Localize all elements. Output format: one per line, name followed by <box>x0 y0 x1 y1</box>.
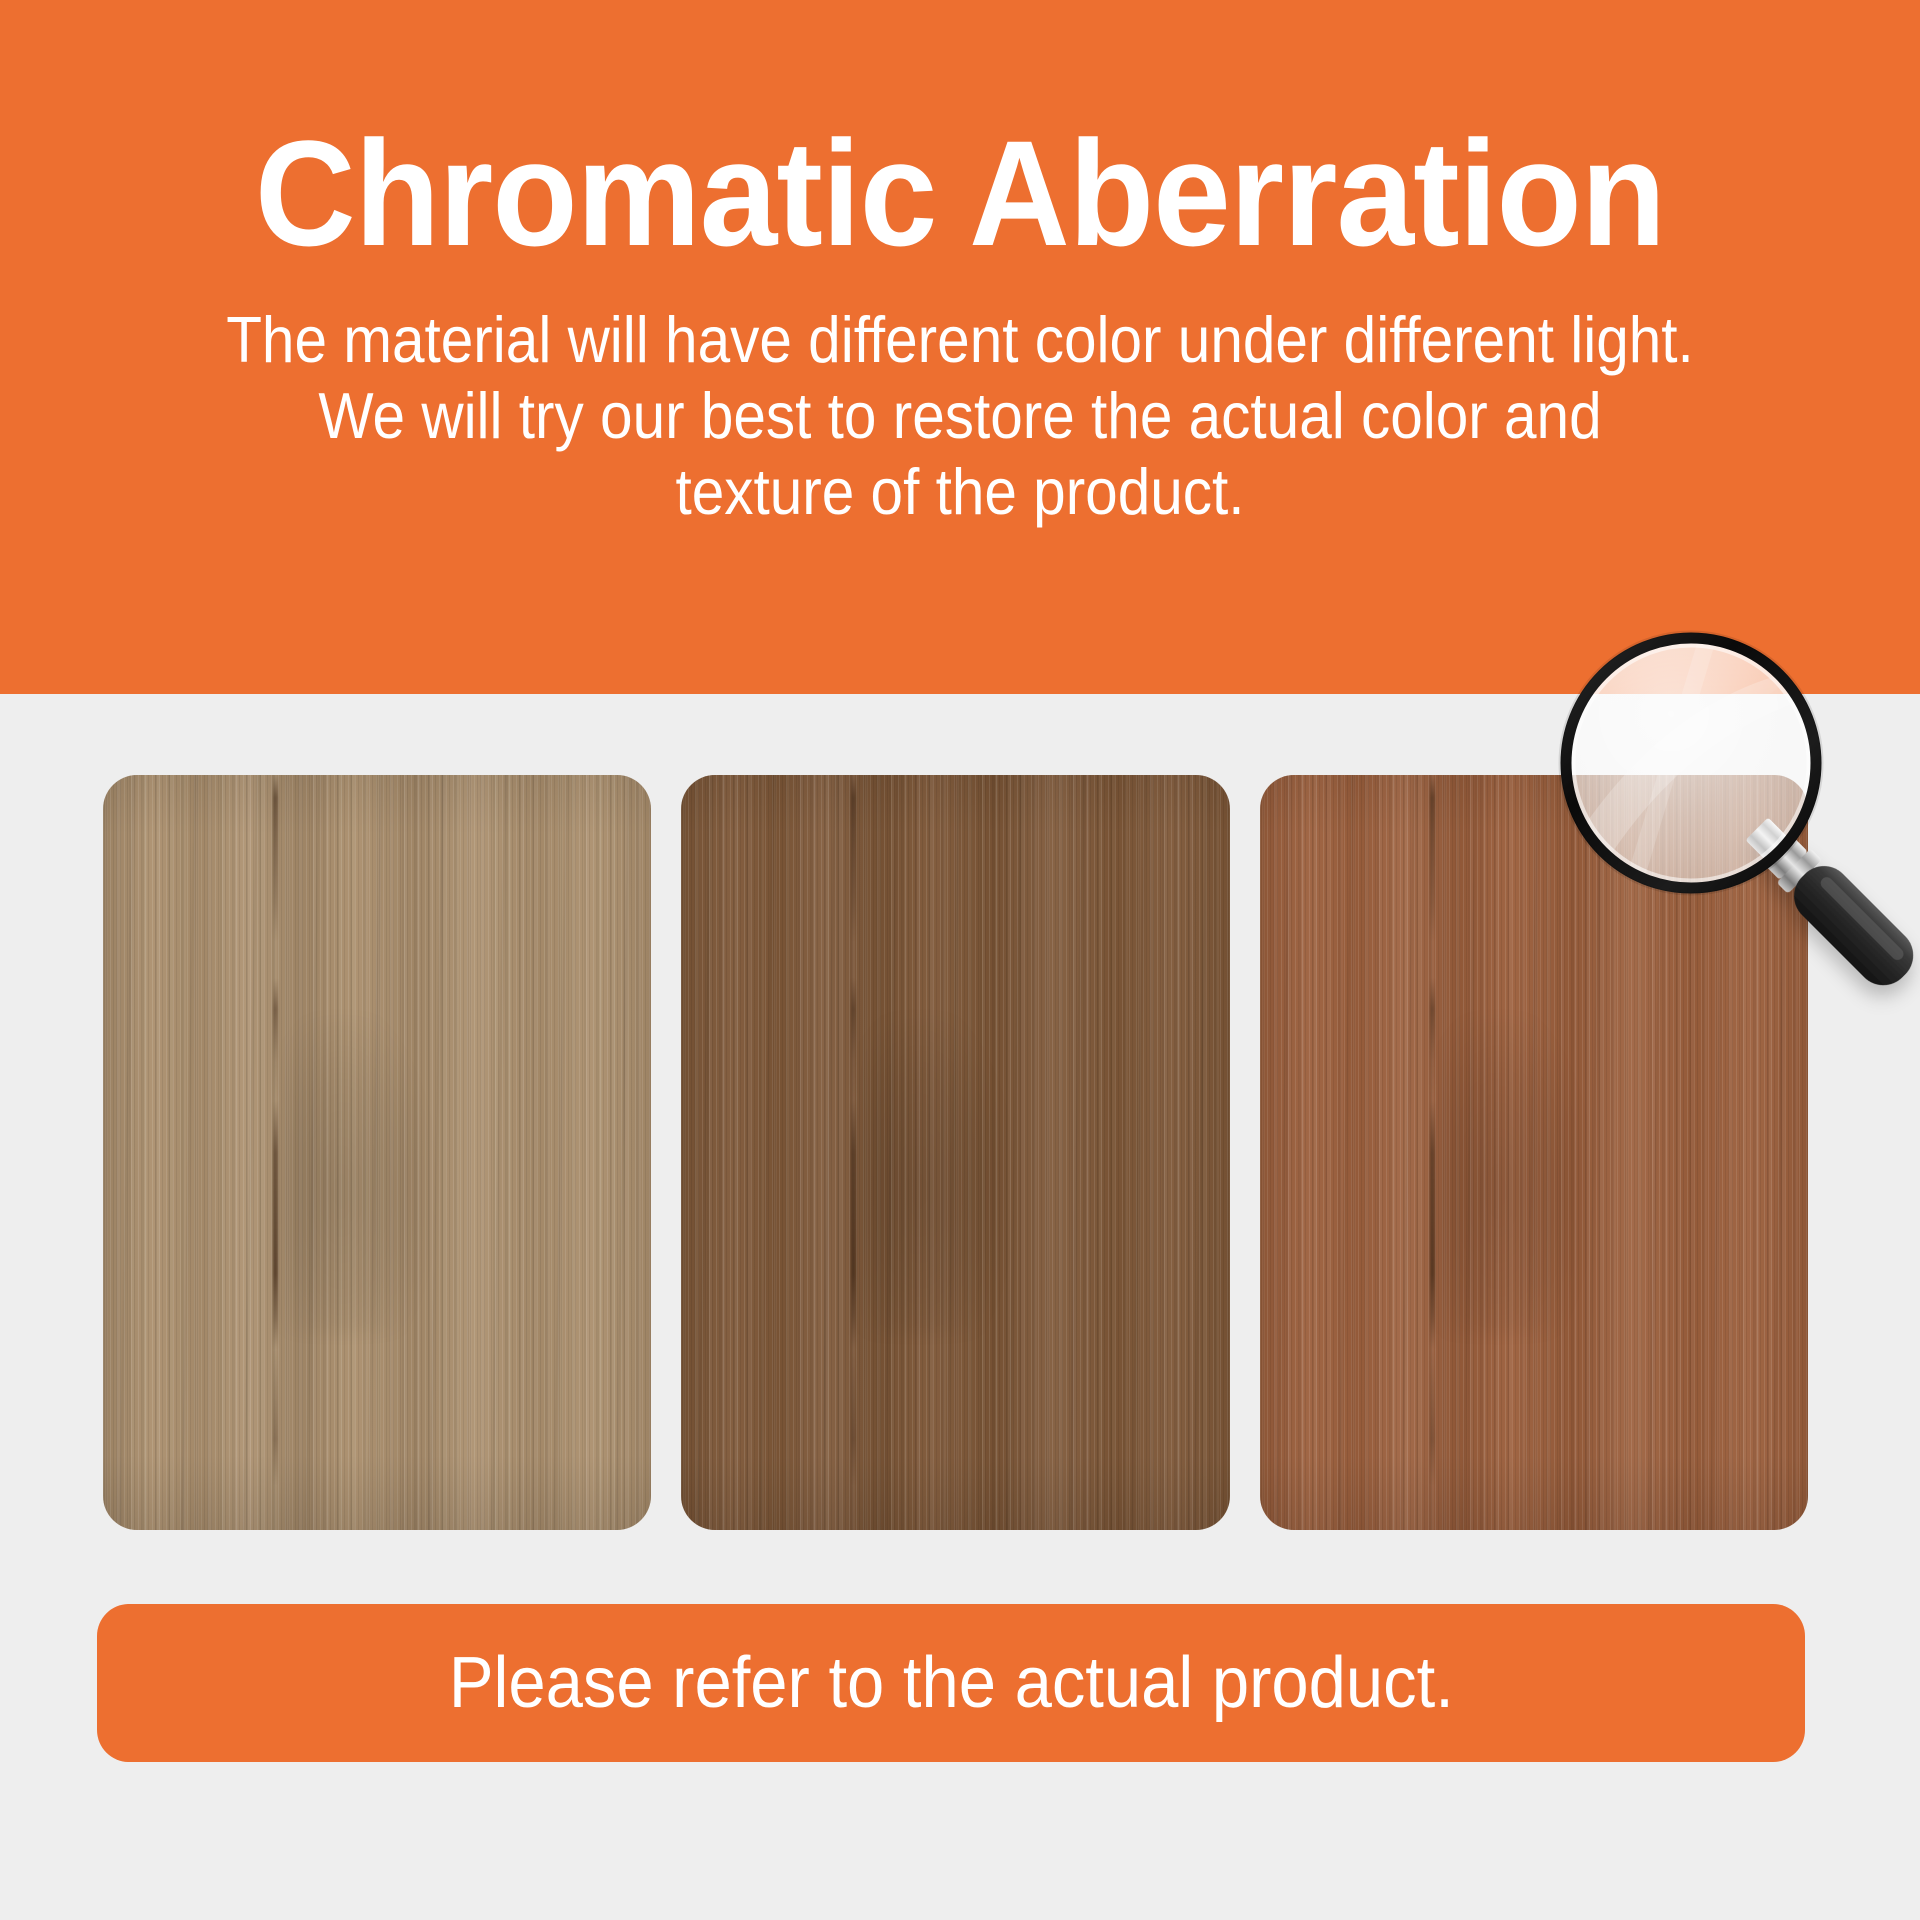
header-subtitle: The material will have different color u… <box>96 268 1824 530</box>
warm-teak-swatch[interactable] <box>1260 775 1808 1530</box>
wood-vignette <box>681 775 1229 1530</box>
wood-vignette <box>1260 775 1808 1530</box>
light-oak-swatch[interactable] <box>103 775 651 1530</box>
header-band: Chromatic Aberration The material will h… <box>0 0 1920 694</box>
banner-label: Please refer to the actual product. <box>448 1647 1453 1719</box>
handle-highlight <box>1818 875 1906 963</box>
subtitle-line-1: The material will have different color u… <box>96 302 1824 378</box>
subtitle-line-2: We will try our best to restore the actu… <box>96 378 1824 454</box>
page-title: Chromatic Aberration <box>67 118 1853 268</box>
medium-walnut-swatch[interactable] <box>681 775 1229 1530</box>
wood-swatch-row <box>103 775 1808 1530</box>
wood-vignette <box>103 775 651 1530</box>
subtitle-line-3: texture of the product. <box>96 454 1824 530</box>
please-refer-banner: Please refer to the actual product. <box>97 1604 1805 1762</box>
